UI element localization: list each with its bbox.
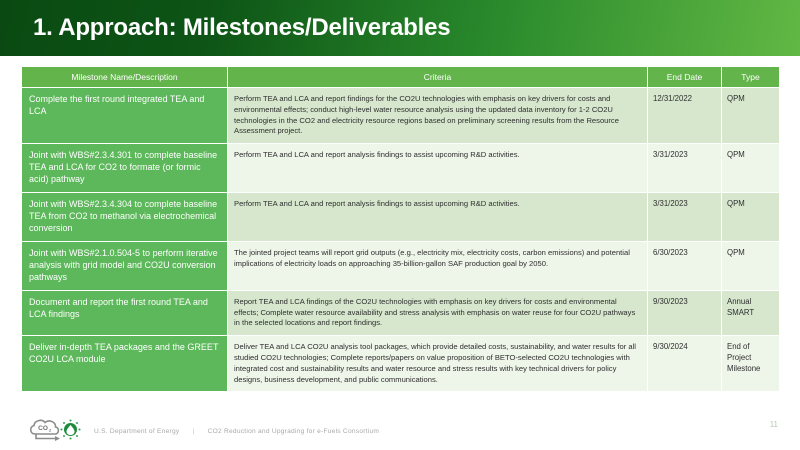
column-header-end-date: End Date [648, 67, 722, 88]
end-date-cell: 3/31/2023 [648, 193, 722, 242]
end-date-cell: 9/30/2023 [648, 290, 722, 335]
co2-upgrading-logo-icon: CO 2 [28, 417, 82, 445]
criteria-cell: Perform TEA and LCA and report findings … [228, 88, 648, 144]
table-body: Complete the first round integrated TEA … [22, 88, 780, 392]
table-row: Joint with WBS#2.3.4.304 to complete bas… [22, 193, 780, 242]
criteria-cell: Perform TEA and LCA and report analysis … [228, 144, 648, 193]
end-date-cell: 6/30/2023 [648, 241, 722, 290]
footer-organization: U.S. Department of Energy [94, 428, 179, 435]
milestone-name-cell: Document and report the first round TEA … [22, 290, 228, 335]
criteria-cell: Perform TEA and LCA and report analysis … [228, 193, 648, 242]
type-cell: QPM [722, 144, 780, 193]
svg-text:CO: CO [38, 425, 48, 432]
table-row: Complete the first round integrated TEA … [22, 88, 780, 144]
table-row: Document and report the first round TEA … [22, 290, 780, 335]
milestone-name-cell: Joint with WBS#2.1.0.504-5 to perform it… [22, 241, 228, 290]
table-header: Milestone Name/Description Criteria End … [22, 67, 780, 88]
milestone-name-cell: Joint with WBS#2.3.4.304 to complete bas… [22, 193, 228, 242]
end-date-cell: 9/30/2024 [648, 336, 722, 392]
type-cell: QPM [722, 193, 780, 242]
criteria-cell: Deliver TEA and LCA CO2U analysis tool p… [228, 336, 648, 392]
milestones-table: Milestone Name/Description Criteria End … [21, 66, 780, 392]
table-row: Joint with WBS#2.1.0.504-5 to perform it… [22, 241, 780, 290]
slide-header-banner: 1. Approach: Milestones/Deliverables [0, 0, 800, 56]
milestones-table-container: Milestone Name/Description Criteria End … [21, 66, 779, 392]
slide-footer: CO 2 U.S. Department of Energy | CO2 Red… [0, 412, 800, 450]
end-date-cell: 12/31/2022 [648, 88, 722, 144]
column-header-criteria: Criteria [228, 67, 648, 88]
footer-text: U.S. Department of Energy | CO2 Reductio… [94, 428, 379, 435]
milestone-name-cell: Complete the first round integrated TEA … [22, 88, 228, 144]
svg-text:2: 2 [49, 428, 52, 433]
footer-consortium: CO2 Reduction and Upgrading for e-Fuels … [208, 428, 380, 435]
table-row: Deliver in-depth TEA packages and the GR… [22, 336, 780, 392]
page-title: 1. Approach: Milestones/Deliverables [33, 14, 450, 42]
column-header-type: Type [722, 67, 780, 88]
footer-separator: | [193, 428, 195, 435]
type-cell: QPM [722, 88, 780, 144]
table-row: Joint with WBS#2.3.4.301 to complete bas… [22, 144, 780, 193]
type-cell: End of Project Milestone [722, 336, 780, 392]
criteria-cell: Report TEA and LCA findings of the CO2U … [228, 290, 648, 335]
end-date-cell: 3/31/2023 [648, 144, 722, 193]
column-header-milestone-name: Milestone Name/Description [22, 67, 228, 88]
slide: 1. Approach: Milestones/Deliverables Mil… [0, 0, 800, 450]
table-header-row: Milestone Name/Description Criteria End … [22, 67, 780, 88]
page-number: 11 [770, 420, 778, 429]
milestone-name-cell: Joint with WBS#2.3.4.301 to complete bas… [22, 144, 228, 193]
milestone-name-cell: Deliver in-depth TEA packages and the GR… [22, 336, 228, 392]
type-cell: QPM [722, 241, 780, 290]
criteria-cell: The jointed project teams will report gr… [228, 241, 648, 290]
type-cell: Annual SMART [722, 290, 780, 335]
